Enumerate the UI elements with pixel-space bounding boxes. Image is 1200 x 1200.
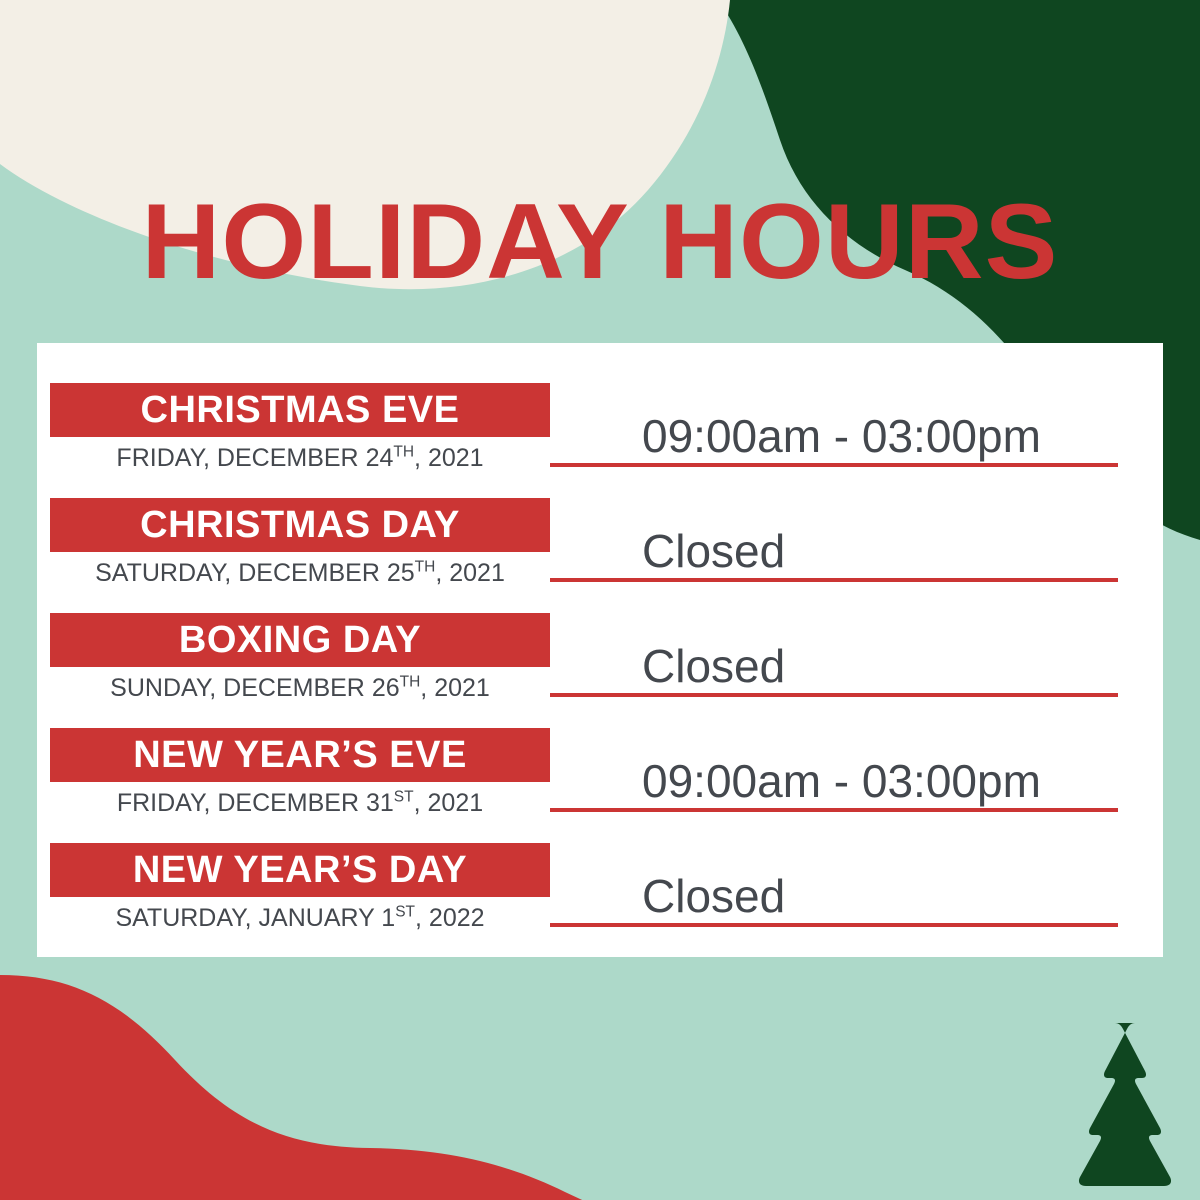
date-day: 26 (372, 674, 400, 702)
date-month: DECEMBER (223, 674, 365, 702)
holiday-date: SUNDAY, DECEMBER 26TH, 2021 (50, 672, 550, 704)
date-year: 2021 (434, 674, 490, 702)
date-month: DECEMBER (217, 444, 359, 472)
date-month: JANUARY (259, 904, 375, 932)
holiday-date: FRIDAY, DECEMBER 31ST, 2021 (50, 787, 550, 819)
christmas-tree-icon (1057, 1021, 1173, 1186)
schedule-row: NEW YEAR’S EVE FRIDAY, DECEMBER 31ST, 20… (37, 718, 1163, 832)
date-ordinal: TH (400, 674, 421, 691)
holiday-hours: Closed (642, 871, 785, 921)
holiday-name: NEW YEAR’S EVE (133, 735, 467, 775)
holiday-name-bar: NEW YEAR’S DAY (50, 843, 550, 897)
holiday-hours: Closed (642, 641, 785, 691)
holiday-name-bar: CHRISTMAS DAY (50, 498, 550, 552)
hours-underline: Closed (550, 498, 1118, 582)
date-month: DECEMBER (238, 559, 380, 587)
date-ordinal: ST (394, 789, 414, 806)
holiday-hours-poster: HOLIDAY HOURS CHRISTMAS EVE FRIDAY, DECE… (0, 0, 1200, 1200)
holiday-name: CHRISTMAS EVE (141, 390, 460, 430)
date-weekday: SUNDAY, (110, 674, 216, 702)
holiday-date: SATURDAY, JANUARY 1ST, 2022 (50, 902, 550, 934)
holiday-name-bar: CHRISTMAS EVE (50, 383, 550, 437)
date-weekday: SATURDAY, (115, 904, 251, 932)
date-day: 25 (387, 559, 415, 587)
schedule-row: NEW YEAR’S DAY SATURDAY, JANUARY 1ST, 20… (37, 833, 1163, 947)
date-day: 24 (366, 444, 394, 472)
date-ordinal: TH (393, 444, 414, 461)
hours-underline: 09:00am - 03:00pm (550, 728, 1118, 812)
holiday-name-bar: NEW YEAR’S EVE (50, 728, 550, 782)
hours-underline: Closed (550, 843, 1118, 927)
date-weekday: SATURDAY, (95, 559, 231, 587)
date-year: 2021 (428, 789, 484, 817)
date-day: 1 (381, 904, 395, 932)
date-ordinal: TH (415, 559, 436, 576)
holiday-name: NEW YEAR’S DAY (133, 850, 467, 890)
hours-underline: Closed (550, 613, 1118, 697)
holiday-name: CHRISTMAS DAY (140, 505, 460, 545)
schedule-row: CHRISTMAS DAY SATURDAY, DECEMBER 25TH, 2… (37, 488, 1163, 602)
holiday-name: BOXING DAY (179, 620, 421, 660)
holiday-name-bar: BOXING DAY (50, 613, 550, 667)
holiday-hours: Closed (642, 526, 785, 576)
date-year: 2021 (428, 444, 484, 472)
page-title: HOLIDAY HOURS (0, 186, 1200, 296)
date-day: 31 (366, 789, 394, 817)
date-weekday: FRIDAY, (116, 444, 210, 472)
date-month: DECEMBER (217, 789, 359, 817)
date-year: 2021 (449, 559, 505, 587)
holiday-hours: 09:00am - 03:00pm (642, 756, 1041, 806)
hours-underline: 09:00am - 03:00pm (550, 383, 1118, 467)
holiday-hours: 09:00am - 03:00pm (642, 411, 1041, 461)
schedule-row: BOXING DAY SUNDAY, DECEMBER 26TH, 2021 C… (37, 603, 1163, 717)
date-ordinal: ST (395, 904, 415, 921)
holiday-date: FRIDAY, DECEMBER 24TH, 2021 (50, 442, 550, 474)
holiday-date: SATURDAY, DECEMBER 25TH, 2021 (50, 557, 550, 589)
schedule-card: CHRISTMAS EVE FRIDAY, DECEMBER 24TH, 202… (37, 343, 1163, 957)
date-year: 2022 (429, 904, 485, 932)
date-weekday: FRIDAY, (117, 789, 211, 817)
schedule-row: CHRISTMAS EVE FRIDAY, DECEMBER 24TH, 202… (37, 373, 1163, 487)
